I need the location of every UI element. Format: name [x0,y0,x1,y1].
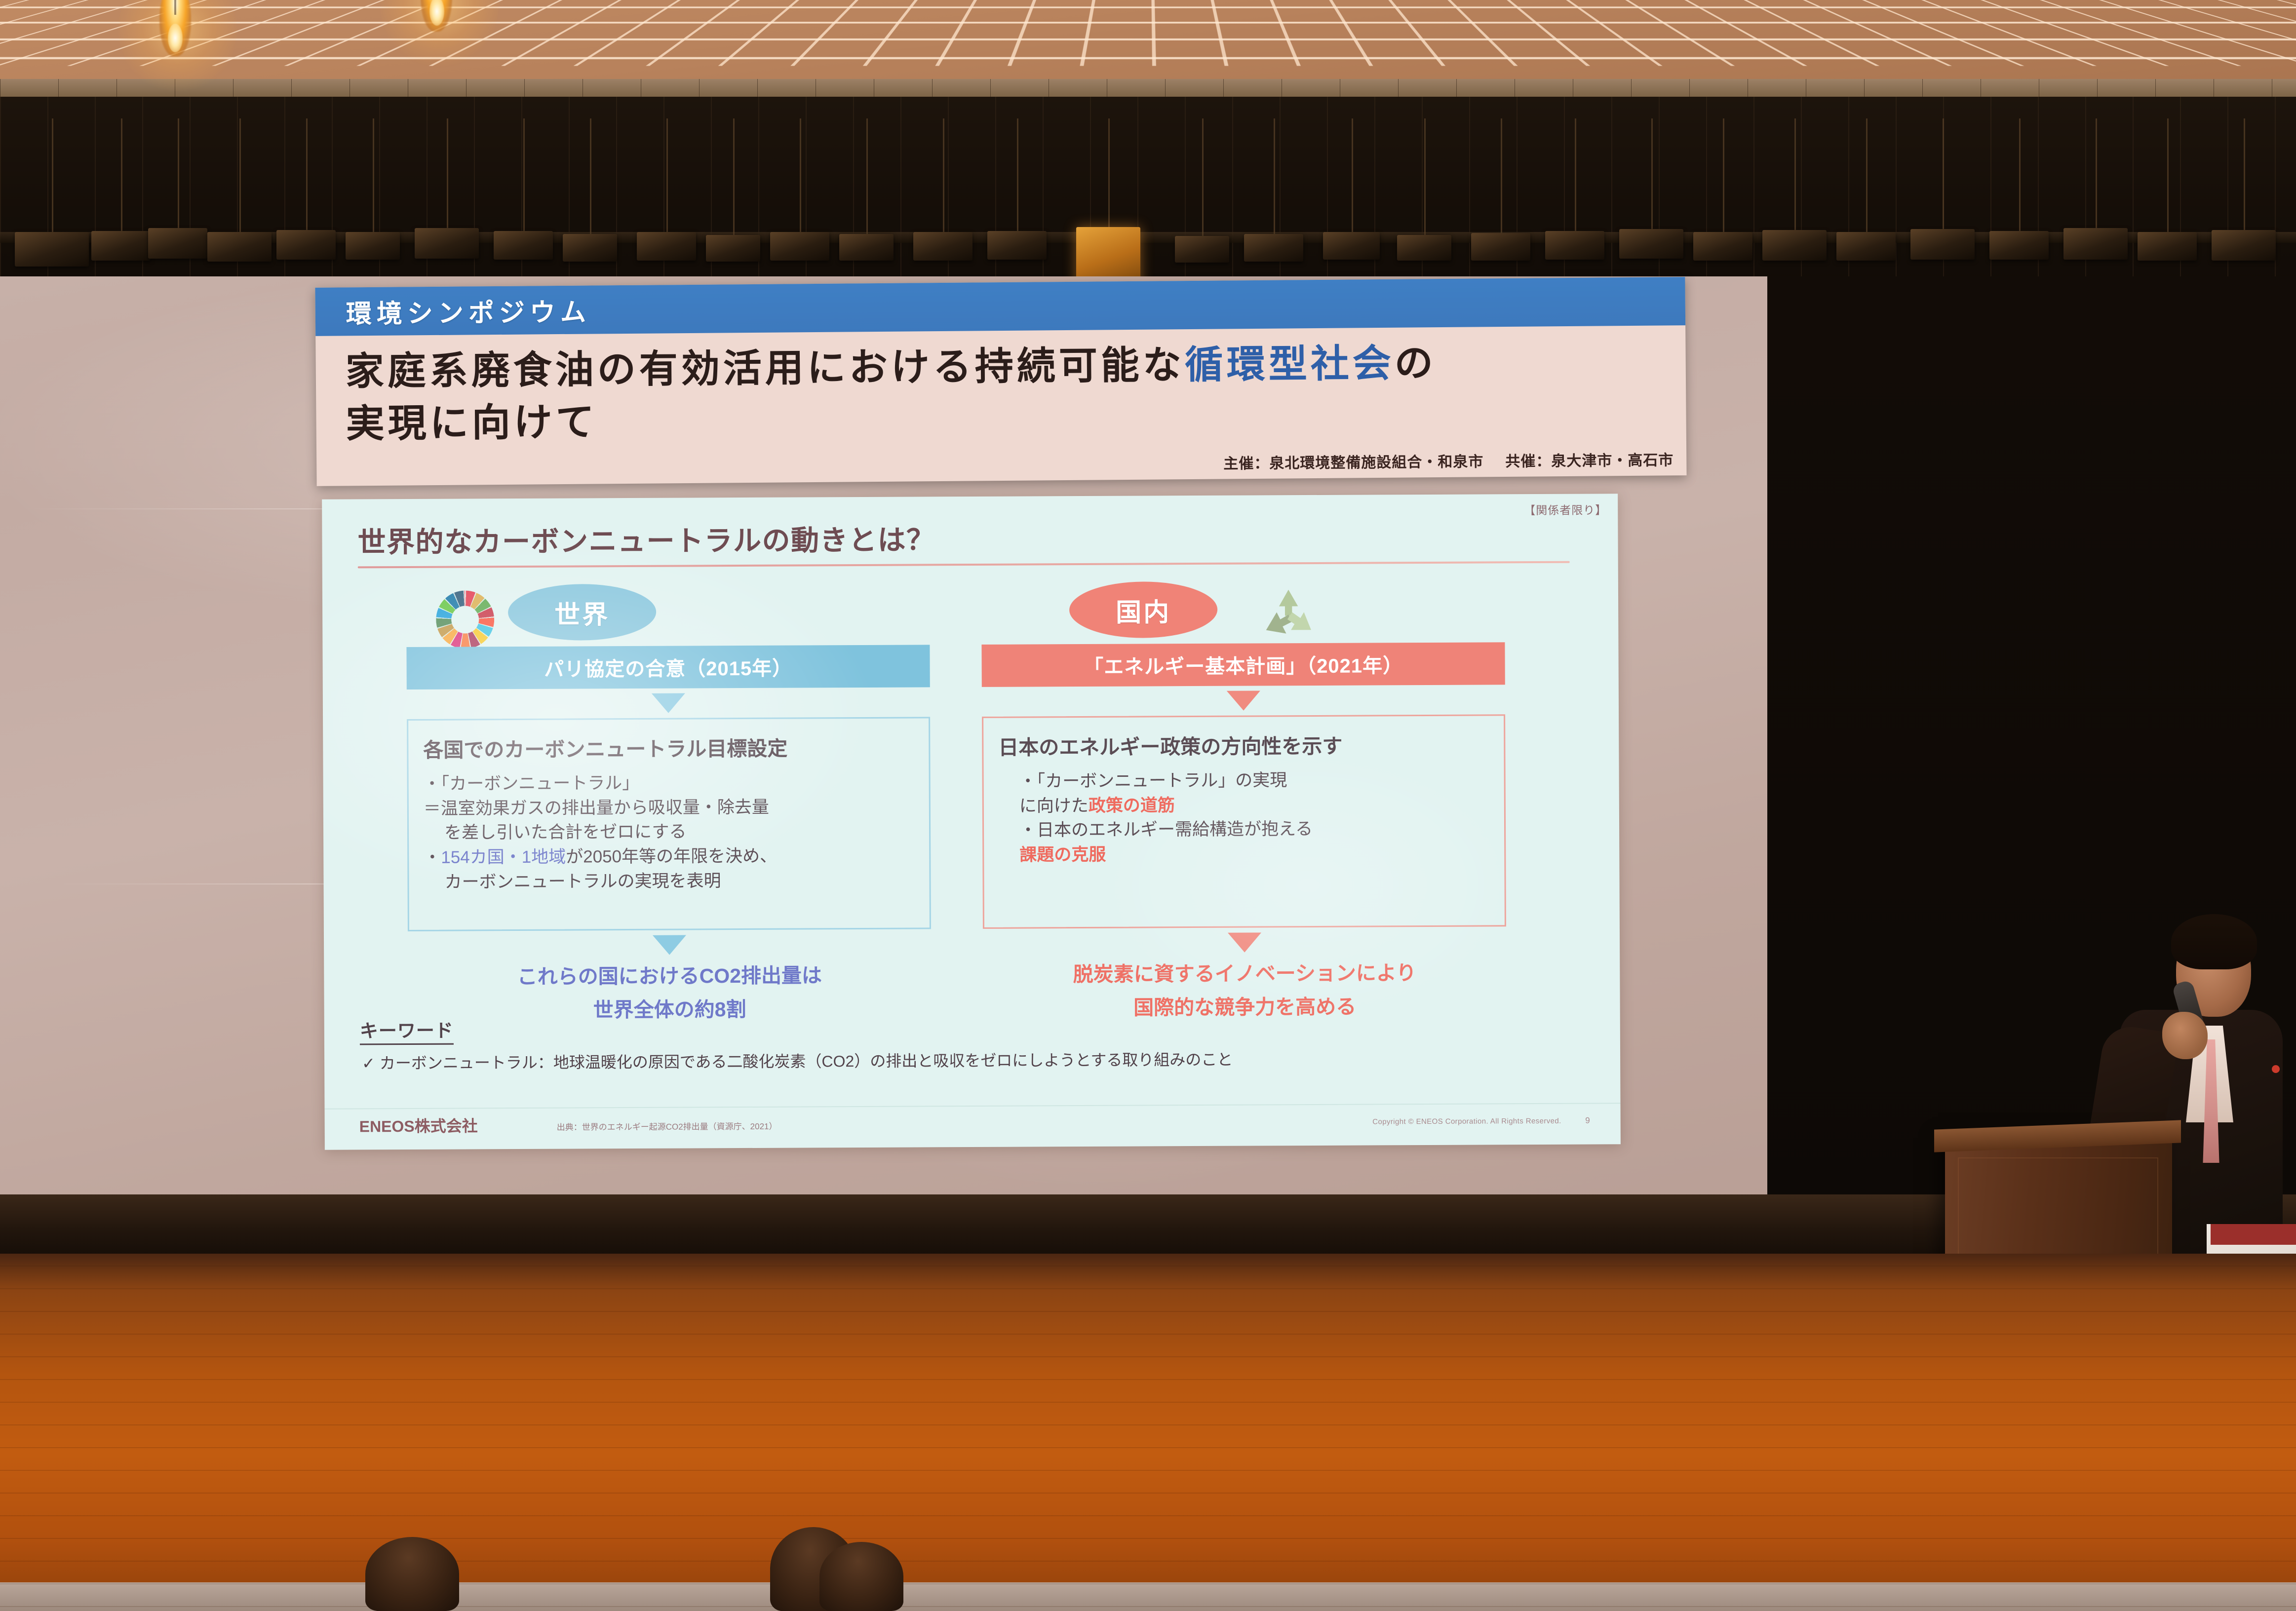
domestic-box-heading: 日本のエネルギー政策の方向性を示す [998,729,1489,760]
world-content-box: 各国でのカーボンニュートラル目標設定 ・「カーボンニュートラル」 ＝温室効果ガス… [407,717,931,931]
slide-title: 世界的なカーボンニュートラルの動きとは？ [357,517,935,560]
world-bar-label: パリ協定の合意（2015年） [406,645,930,690]
domestic-column-header: 国内 [981,576,1505,644]
slide-page-number: 9 [1585,1116,1590,1126]
banner-title-line-1: 家庭系廃食油の有効活用における持続可能な循環型社会の [345,332,1437,396]
sdg-wheel-icon [436,590,495,649]
speaker-hair [2171,914,2257,969]
world-box-line: ＝温室効果ガスの排出量から吸収量・除去量 [424,794,914,821]
audience-head [819,1542,903,1611]
bag-red-top [2211,1224,2296,1245]
ceiling-lamp-stem-1 [174,0,176,15]
domestic-arrow-down-1 [1227,690,1260,710]
slide-column-world: 世界 パリ協定の合意（2015年） 各国でのカーボンニュートラル目標設定 ・「カ… [406,578,932,1028]
audience-head [365,1537,459,1611]
ceiling-grid-pattern [0,0,2296,66]
event-banner: 環境シンポジウム 家庭系廃食油の有効活用における持続可能な循環型社会の 実現に向… [315,277,1686,486]
keyword-item: ✓ カーボンニュートラル：地球温暖化の原因である二酸化炭素（CO2）の排出と吸収… [362,1047,1233,1074]
world-box-line: ・「カーボンニュートラル」 [424,770,914,797]
presentation-slide: 【関係者限り】 世界的なカーボンニュートラルの動きとは？ 世界 パリ協定の合意（… [322,494,1621,1150]
source-citation: 出典：世界のエネルギー起源CO2排出量（資源庁、2021） [557,1119,778,1133]
world-arrow-down-1 [652,693,685,713]
world-column-header: 世界 [406,578,930,646]
banner-credits: 主催：泉北環境整備施設組合・和泉市共催：泉大津市・高石市 [1223,448,1673,473]
world-conclusion: これらの国におけるCO2排出量は 世界全体の約8割 [408,959,932,1028]
keyword-heading: キーワード [360,1016,454,1045]
back-wall [0,97,2296,304]
stage-floor [0,1254,2296,1611]
world-box-heading: 各国でのカーボンニュートラル目標設定 [423,731,914,763]
slide-column-domestic: 国内 「エネルギー基本計画」（2021年） 日本のエネルギー政策の方向性を示す … [981,576,1507,1025]
domestic-arrow-down-2 [1228,932,1261,952]
domestic-conclusion: 脱炭素に資するイノベーションにより 国際的な競争力を高める [983,956,1507,1025]
banner-body: 家庭系廃食油の有効活用における持続可能な循環型社会の 実現に向けて 主催：泉北環… [315,325,1686,486]
confidential-marker: 【関係者限り】 [1524,500,1607,518]
world-pill: 世界 [508,584,656,641]
slide-title-underline [358,561,1570,569]
domestic-box-line-emphasis: に向けた政策の道筋 [999,792,1489,818]
domestic-box-line: ・「カーボンニュートラル」の実現 [999,767,1489,794]
world-arrow-down-2 [653,935,686,955]
domestic-pill: 国内 [1069,581,1217,638]
speaker-hand-holding-mic [2162,1012,2208,1059]
lapel-pin-icon [2272,1065,2280,1073]
world-box-line: カーボンニュートラルの実現を表明 [424,868,914,894]
world-box-line-emphasis: ・154カ国・1地域が2050年等の年限を決め、 [424,844,914,870]
recycle-icon [1258,585,1320,645]
banner-eyebrow-text: 環境シンポジウム [346,291,591,330]
domestic-box-line-emphasis: 課題の克服 [999,841,1489,867]
slide-footer: ENEOS株式会社 出典：世界のエネルギー起源CO2排出量（資源庁、2021） … [325,1103,1621,1150]
copyright-text: Copyright © ENEOS Corporation. All Right… [1372,1117,1561,1126]
photo-scene: 環境シンポジウム 家庭系廃食油の有効活用における持続可能な循環型社会の 実現に向… [0,0,2296,1611]
domestic-bar-label: 「エネルギー基本計画」（2021年） [981,642,1505,687]
domestic-content-box: 日本のエネルギー政策の方向性を示す ・「カーボンニュートラル」の実現 に向けた政… [982,714,1506,929]
eneos-logo: ENEOS株式会社 [359,1113,478,1137]
world-box-line: を差し引いた合計をゼロにする [424,819,914,845]
domestic-box-line: ・日本のエネルギー需給構造が抱える [999,816,1489,843]
ceiling-lamp-core-1 [168,24,183,52]
banner-title-line-2: 実現に向けて [346,391,598,448]
